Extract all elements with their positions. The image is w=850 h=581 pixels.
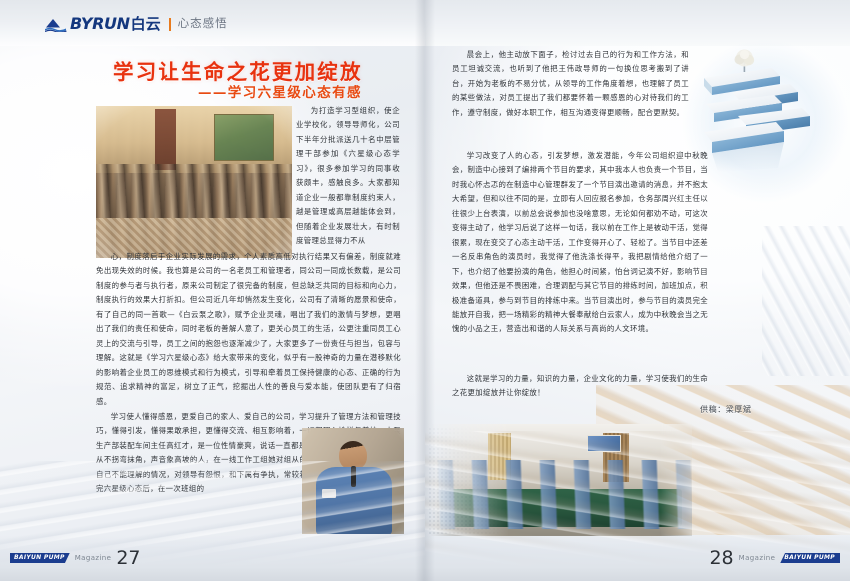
paragraph: 学习改变了人的心态，引发梦想，激发潜能，今年公司组织迎中秋晚会，制造中心接到了编… bbox=[452, 149, 708, 337]
paragraph: 心，制度落后于企业实际发展的需求，个人素质高低对执行结果又有偏差，制度就难免出现… bbox=[96, 250, 401, 409]
paragraph: 这就是学习的力量，知识的力量，企业文化的力量，学习使我们的生命之花更加绽放并让你… bbox=[452, 372, 708, 401]
article-byline: 供稿：梁厚斌 bbox=[700, 404, 752, 415]
brand-logo: BYRUN 白云 心态感悟 bbox=[45, 13, 228, 35]
logo-wordmark: BYRUN bbox=[70, 16, 130, 32]
decorative-light-rays-upper-right bbox=[762, 226, 850, 376]
mountain-wave-logo-icon bbox=[45, 17, 67, 32]
right-page-header-band bbox=[425, 0, 850, 46]
article-subtitle: ——学习六星级心态有感 bbox=[198, 81, 418, 101]
footer-left: BAIYUN PUMP Magazine 27 bbox=[10, 547, 141, 569]
tree-icon bbox=[735, 50, 755, 73]
logo-chinese-name: 白云 bbox=[131, 17, 161, 32]
photo-speaker-badge bbox=[322, 489, 335, 497]
photo-meeting-participants bbox=[430, 460, 692, 529]
magazine-spread: BYRUN 白云 心态感悟 学习让生命之花更加绽放 ——学习六星级心态有感 为打… bbox=[0, 0, 850, 581]
right-body-paragraph-3: 这就是学习的力量，知识的力量，企业文化的力量，学习使我们的生命之花更加绽放并让你… bbox=[452, 372, 708, 401]
logo-divider bbox=[169, 18, 171, 31]
footer-brand-tag: BAIYUN PUMP bbox=[10, 553, 70, 563]
paragraph: 晨会上，他主动放下面子，检讨过去自己的行为和工作方法，和员工坦诚交流，也听到了他… bbox=[452, 48, 689, 120]
photo-meeting-wall-screen bbox=[587, 435, 620, 452]
page-number-left: 27 bbox=[116, 547, 140, 569]
stacked-books-illustration-icon bbox=[698, 46, 830, 186]
page-number-right: 28 bbox=[709, 547, 733, 569]
left-body-paragraph-2: 心，制度落后于企业实际发展的需求，个人素质高低对执行结果又有偏差，制度就难免出现… bbox=[96, 250, 401, 409]
footer-brand-tag: BAIYUN PUMP bbox=[780, 553, 840, 563]
right-body-paragraph-1: 晨会上，他主动放下面子，检讨过去自己的行为和工作方法，和员工坦诚交流，也听到了他… bbox=[452, 48, 689, 120]
photo-speaker-microphone bbox=[351, 466, 356, 487]
photo-team-meeting bbox=[430, 424, 692, 536]
page-right-28: 晨会上，他主动放下面子，检讨过去自己的行为和工作方法，和员工坦诚交流，也听到了他… bbox=[425, 0, 850, 581]
left-column-intro-text: 为打造学习型组织，使企业学校化，领导导师化，公司下半年分批派送几十名中层管理干部… bbox=[296, 104, 400, 249]
footer-magazine-label: Magazine bbox=[75, 554, 112, 562]
right-body-paragraph-2: 学习改变了人的心态，引发梦想，激发潜能，今年公司组织迎中秋晚会，制造中心接到了编… bbox=[452, 149, 708, 337]
photo-employee-speaker bbox=[302, 428, 404, 534]
footer-right: 28 Magazine BAIYUN PUMP bbox=[709, 547, 840, 569]
photo-seminar-doorway bbox=[155, 109, 177, 170]
footer-magazine-label: Magazine bbox=[739, 554, 776, 562]
photo-training-seminar bbox=[96, 106, 292, 258]
photo-meeting-ceiling bbox=[430, 424, 692, 458]
page-left-27: BYRUN 白云 心态感悟 学习让生命之花更加绽放 ——学习六星级心态有感 为打… bbox=[0, 0, 425, 581]
section-tagline: 心态感悟 bbox=[178, 18, 228, 30]
paragraph: 为打造学习型组织，使企业学校化，领导导师化，公司下半年分批派送几十名中层管理干部… bbox=[296, 104, 400, 249]
photo-seminar-wall-art bbox=[214, 114, 275, 162]
